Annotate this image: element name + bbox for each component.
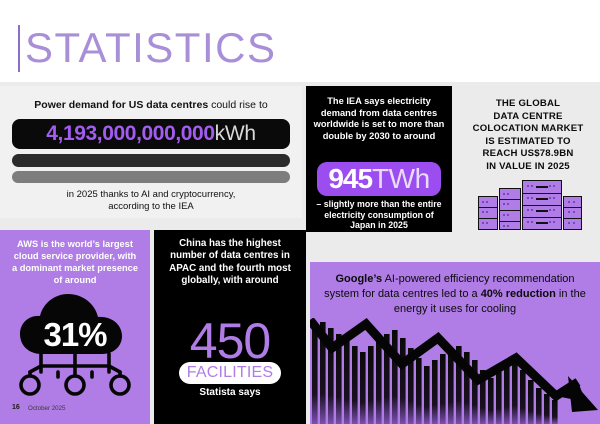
us-power-footer-line2: according to the IEA: [24, 201, 278, 213]
cloud-network-icon: 31%: [8, 288, 142, 396]
us-power-lead-rest: could rise to: [208, 99, 268, 111]
china-source-label: Statista says: [154, 387, 306, 398]
panel-colocation-market: THE GLOBAL DATA CENTRE COLOCATION MARKET…: [456, 86, 600, 232]
decorative-bar-grey: [12, 171, 290, 183]
infographic-page: STATISTICS Power demand for US data cent…: [0, 0, 600, 424]
us-power-lead-bold: Power demand for US data centres: [34, 99, 208, 111]
us-power-number-chip: 4,193,000,000,000kWh: [12, 119, 290, 149]
google-brand: Google’s: [335, 273, 382, 285]
server-racks-icon: [478, 180, 582, 230]
decorative-bar-dark: [12, 154, 290, 167]
title-accent-bar: [18, 25, 20, 72]
iea-footer-text: – slightly more than the entire electric…: [314, 199, 444, 231]
aws-percentage: 31%: [8, 316, 142, 354]
aws-lead-text: AWS is the world’s largest cloud service…: [10, 238, 140, 286]
china-lead-text: China has the highest number of data cen…: [162, 238, 298, 288]
footer-page-number: 16: [12, 404, 20, 411]
colocation-line-2: DATA CENTRE: [460, 111, 596, 124]
us-power-number: 4,193,000,000,000: [46, 122, 214, 146]
colocation-line-5: REACH US$78.9BN: [460, 148, 596, 161]
colocation-value: US$78.9BN: [520, 148, 573, 159]
colocation-line-4: IS ESTIMATED TO: [460, 136, 596, 149]
us-power-footer-line1: in 2025 thanks to AI and cryptocurrency,: [24, 189, 278, 201]
panel-us-power-demand: Power demand for US data centres could r…: [0, 86, 302, 218]
iea-unit: TWh: [372, 163, 430, 195]
us-power-unit: kWh: [215, 122, 256, 146]
panel-aws-market-share: AWS is the world’s largest cloud service…: [0, 230, 150, 424]
page-title: STATISTICS: [25, 24, 276, 72]
page-footer: 16 October 2025: [12, 404, 132, 416]
iea-number-chip: 945TWh: [317, 162, 441, 196]
us-power-lead-text: Power demand for US data centres could r…: [14, 99, 288, 112]
china-facility-count: 450: [154, 314, 306, 368]
china-facilities-label: FACILITIES: [187, 364, 273, 382]
iea-number: 945: [328, 163, 372, 195]
china-facilities-pill: FACILITIES: [179, 362, 281, 384]
colocation-text-block: THE GLOBAL DATA CENTRE COLOCATION MARKET…: [460, 98, 596, 174]
us-power-footer: in 2025 thanks to AI and cryptocurrency,…: [24, 189, 278, 213]
panel-china-data-centres: China has the highest number of data cen…: [154, 230, 306, 424]
iea-lead-text: The IEA says electricity demand from dat…: [313, 96, 445, 142]
colocation-line-1: THE GLOBAL: [460, 98, 596, 111]
footer-date: October 2025: [28, 405, 66, 412]
downward-trend-chart-icon: [310, 318, 600, 424]
google-reduction-value: 40% reduction: [481, 288, 556, 300]
google-lead-text: Google’s AI-powered efficiency recommend…: [324, 272, 586, 317]
colocation-line-6: IN VALUE IN 2025: [460, 161, 596, 174]
colocation-line-3: COLOCATION MARKET: [460, 123, 596, 136]
page-header: STATISTICS: [0, 0, 600, 82]
colocation-reach-prefix: REACH: [483, 148, 521, 159]
panel-iea-electricity-demand: The IEA says electricity demand from dat…: [306, 86, 452, 232]
panel-google-cooling-efficiency: Google’s AI-powered efficiency recommend…: [310, 262, 600, 424]
